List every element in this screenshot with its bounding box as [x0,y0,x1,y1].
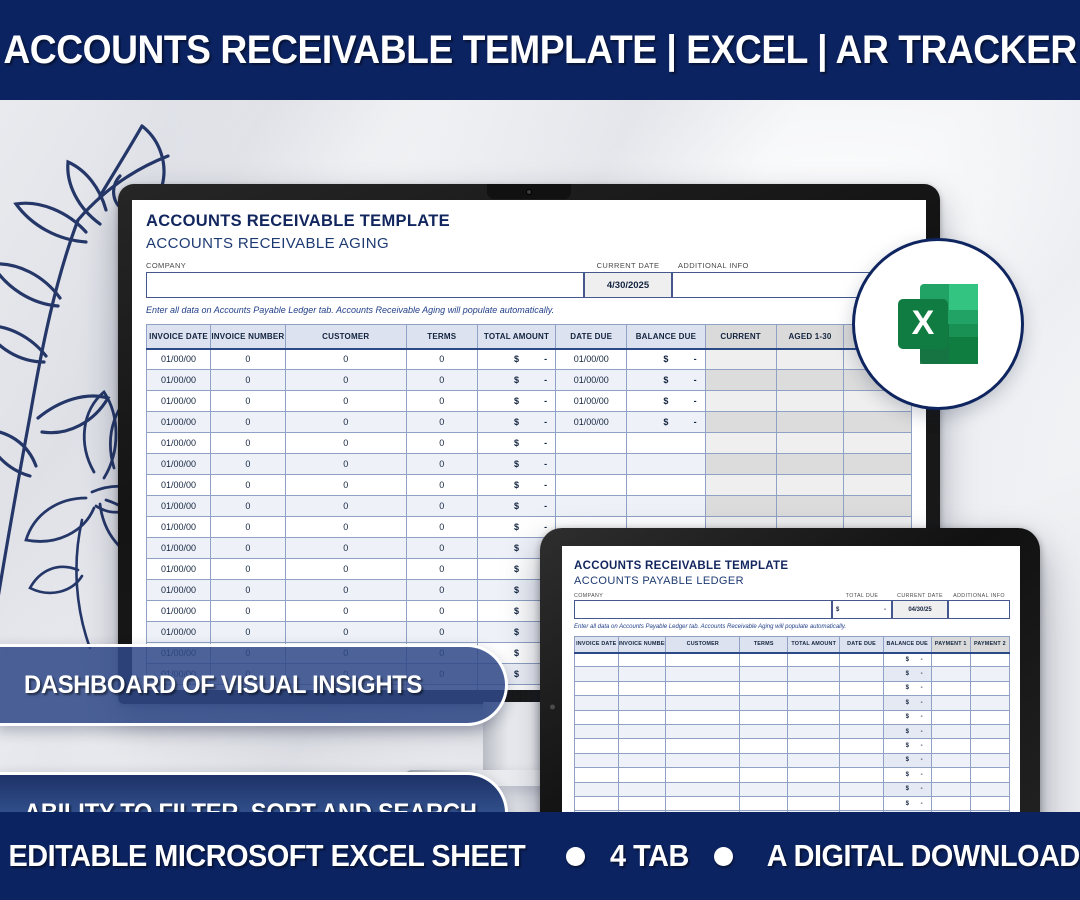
table-row[interactable]: $- [575,739,1010,753]
cell[interactable] [788,696,840,710]
column-header-total-amount[interactable]: TOTAL AMOUNT [477,325,555,349]
cell[interactable] [705,370,776,391]
table-row[interactable]: 01/00/00000$- [147,496,912,517]
column-header-aged-1-30[interactable]: AGED 1-30 [776,325,844,349]
cell[interactable] [740,768,788,782]
cell[interactable]: 01/00/00 [147,433,211,454]
cell[interactable]: 0 [211,580,286,601]
cell-dash: - [544,480,547,490]
column-header-invoice-number[interactable]: INVOICE NUMBER [618,637,666,653]
cell[interactable]: 0 [406,559,477,580]
cell[interactable] [705,454,776,475]
cell[interactable] [970,681,1009,695]
cell[interactable] [776,370,844,391]
cell[interactable] [575,681,619,695]
cell[interactable] [618,710,666,724]
cell[interactable] [970,653,1009,667]
cell[interactable]: 01/00/00 [147,496,211,517]
cell[interactable] [618,753,666,767]
callout-badge-filter-sort[interactable]: ABILITY TO FILTER, SORT AND SEARCH [0,772,508,812]
cell[interactable] [840,653,884,667]
cell[interactable]: $- [883,768,931,782]
cell[interactable] [575,796,619,810]
cell[interactable]: $- [883,696,931,710]
cell-dash: - [694,375,697,385]
cell[interactable] [666,681,740,695]
table-row[interactable]: $- [575,768,1010,782]
cell[interactable]: $- [477,412,555,433]
cell[interactable] [575,753,619,767]
cell[interactable]: 01/00/00 [147,349,211,370]
cell[interactable] [705,433,776,454]
cell[interactable]: $- [477,391,555,412]
cell[interactable]: 0 [211,349,286,370]
cell[interactable]: 01/00/00 [556,349,627,370]
cell[interactable]: 0 [285,538,406,559]
cell[interactable]: $- [477,496,555,517]
cell[interactable] [788,753,840,767]
tablet-total-due-label: TOTAL DUE [832,593,892,599]
cell[interactable] [788,653,840,667]
cell[interactable] [931,739,970,753]
cell-dash: - [544,396,547,406]
cell[interactable]: 01/00/00 [147,559,211,580]
cell[interactable] [556,496,627,517]
cell[interactable]: 0 [406,412,477,433]
cell[interactable]: 0 [211,454,286,475]
cell-dash: - [921,700,923,706]
cell[interactable] [931,667,970,681]
callout-label-2: ABILITY TO FILTER, SORT AND SEARCH [24,799,477,813]
cell[interactable] [840,724,884,738]
table-row[interactable]: 01/00/00000$- [147,454,912,475]
cell[interactable] [666,696,740,710]
cell[interactable]: 0 [285,391,406,412]
cell[interactable]: 0 [285,517,406,538]
cell[interactable]: 0 [285,622,406,643]
cell-dash: - [921,801,923,807]
cell[interactable] [618,696,666,710]
monitor-instruction-note: Enter all data on Accounts Payable Ledge… [146,305,912,315]
cell[interactable]: $- [883,796,931,810]
cell[interactable]: 0 [211,538,286,559]
monitor-current-date-value[interactable]: 4/30/2025 [584,272,672,298]
ap-ledger-spreadsheet: ACCOUNTS RECEIVABLE TEMPLATE ACCOUNTS PA… [562,546,1020,812]
monitor-company-input[interactable] [146,272,584,298]
cell[interactable] [575,768,619,782]
cell[interactable]: $- [883,681,931,695]
cell[interactable] [627,454,705,475]
table-row[interactable]: 01/00/00000$-01/00/00$- [147,391,912,412]
cell[interactable]: $- [883,653,931,667]
cell[interactable]: 0 [211,517,286,538]
bottom-text-1: EDITABLE MICROSOFT EXCEL SHEET [8,838,525,874]
cell[interactable]: 0 [211,622,286,643]
cell[interactable] [740,753,788,767]
table-row[interactable]: $- [575,753,1010,767]
cell[interactable]: 0 [285,433,406,454]
cell[interactable]: 0 [406,475,477,496]
cell[interactable] [931,696,970,710]
poster-title: ACCOUNTS RECEIVABLE TEMPLATE | EXCEL | A… [3,28,1076,73]
cell[interactable]: $- [883,739,931,753]
excel-letter-x: X [912,304,935,342]
cell[interactable] [840,739,884,753]
cell[interactable] [556,433,627,454]
cell-dash: - [921,685,923,691]
cell[interactable] [666,782,740,796]
table-row[interactable]: 01/00/00000$- [147,433,912,454]
cell[interactable] [740,710,788,724]
cell[interactable]: 0 [285,349,406,370]
cell[interactable]: 0 [211,475,286,496]
tablet-current-date-label: CURRENT DATE [892,593,948,599]
cell[interactable] [575,724,619,738]
cell-dash: - [694,417,697,427]
cell[interactable]: $- [477,370,555,391]
monitor-sheet-subtitle: ACCOUNTS RECEIVABLE AGING [146,235,912,252]
cell[interactable]: 0 [406,496,477,517]
cell[interactable]: 0 [211,433,286,454]
cell-dash: - [544,501,547,511]
cell[interactable]: 0 [211,496,286,517]
cell[interactable]: 01/00/00 [556,412,627,433]
table-row[interactable]: $- [575,653,1010,667]
cell[interactable]: $- [627,349,705,370]
cell[interactable]: 0 [285,454,406,475]
cell[interactable] [666,653,740,667]
tablet-current-date-value[interactable]: 04/30/25 [892,600,948,619]
cell[interactable]: 0 [211,370,286,391]
cell[interactable] [740,667,788,681]
cell[interactable] [627,433,705,454]
tablet-company-input[interactable] [574,600,832,619]
cell[interactable] [931,768,970,782]
cell[interactable] [705,475,776,496]
cell[interactable] [970,796,1009,810]
cell[interactable] [788,782,840,796]
cell[interactable]: 01/00/00 [147,517,211,538]
bottom-banner: EDITABLE MICROSOFT EXCEL SHEET 4 TAB A D… [0,812,1080,900]
cell[interactable]: 0 [285,370,406,391]
cell[interactable] [705,391,776,412]
cell[interactable] [776,349,844,370]
cell[interactable]: $- [477,433,555,454]
cell[interactable] [776,475,844,496]
cell[interactable]: $- [627,391,705,412]
cell[interactable] [740,696,788,710]
cell-dash: - [921,757,923,763]
column-header-total-amount[interactable]: TOTAL AMOUNT [788,637,840,653]
tablet-additional-info-input[interactable] [948,600,1010,619]
cell[interactable] [618,796,666,810]
cell[interactable] [740,653,788,667]
cell[interactable] [705,496,776,517]
cell[interactable] [618,782,666,796]
cell-dash: - [694,396,697,406]
column-header-customer[interactable]: CUSTOMER [285,325,406,349]
column-header-date-due[interactable]: DATE DUE [556,325,627,349]
tablet-total-due-value[interactable]: $ - [832,600,892,619]
column-header-balance-due[interactable]: BALANCE DUE [627,325,705,349]
cell[interactable] [788,710,840,724]
tablet-additional-info-label: ADDITIONAL INFO [948,593,1010,599]
cell[interactable]: $- [883,724,931,738]
callout-label-1: DASHBOARD OF VISUAL INSIGHTS [24,671,422,700]
cell[interactable]: $- [477,475,555,496]
cell[interactable]: 0 [406,580,477,601]
cell[interactable] [970,667,1009,681]
cell[interactable] [666,710,740,724]
table-row[interactable]: $- [575,724,1010,738]
cell[interactable] [618,724,666,738]
cell[interactable]: 0 [285,496,406,517]
cell[interactable] [575,782,619,796]
callout-badge-dashboard[interactable]: DASHBOARD OF VISUAL INSIGHTS [0,644,508,726]
cell[interactable]: 01/00/00 [147,580,211,601]
cell[interactable] [788,667,840,681]
cell[interactable] [627,475,705,496]
cell[interactable] [970,739,1009,753]
cell[interactable] [844,454,912,475]
column-header-terms[interactable]: TERMS [740,637,788,653]
cell[interactable] [740,681,788,695]
cell[interactable]: 0 [406,622,477,643]
cell[interactable] [788,768,840,782]
cell[interactable] [840,667,884,681]
cell[interactable]: 01/00/00 [556,370,627,391]
cell[interactable]: 0 [406,433,477,454]
cell[interactable]: 0 [406,517,477,538]
main-visual-area: ACCOUNTS RECEIVABLE TEMPLATE ACCOUNTS RE… [0,100,1080,812]
cell[interactable]: $- [883,667,931,681]
circle-bullet-icon [714,847,733,866]
cell-dash: - [921,657,923,663]
cell[interactable] [840,753,884,767]
cell[interactable]: 01/00/00 [147,601,211,622]
cell-dash: - [921,772,923,778]
tablet-company-label: COMPANY [574,593,832,599]
tablet-device: ACCOUNTS RECEIVABLE TEMPLATE ACCOUNTS PA… [540,528,1040,812]
cell[interactable]: 0 [285,601,406,622]
table-row[interactable]: 01/00/00000$- [147,475,912,496]
monitor-current-date-label: CURRENT DATE [584,261,672,270]
cell[interactable]: $- [883,753,931,767]
cell[interactable]: 0 [406,538,477,559]
cell-dash: - [921,714,923,720]
cell[interactable] [931,782,970,796]
tablet-camera-icon [550,705,555,710]
cell[interactable]: 0 [406,370,477,391]
cell[interactable] [740,796,788,810]
table-row[interactable]: $- [575,710,1010,724]
cell[interactable]: 0 [285,559,406,580]
table-row[interactable]: $- [575,681,1010,695]
cell[interactable]: 01/00/00 [556,391,627,412]
microsoft-excel-icon: X [882,268,994,380]
cell[interactable]: 01/00/00 [147,538,211,559]
cell[interactable] [840,710,884,724]
tablet-sheet-title: ACCOUNTS RECEIVABLE TEMPLATE [574,560,1010,572]
bottom-text-3: A DIGITAL DOWNLOAD [767,838,1080,874]
cell[interactable] [844,412,912,433]
cell[interactable]: 0 [211,412,286,433]
cell[interactable] [556,454,627,475]
cell[interactable] [840,796,884,810]
cell[interactable] [618,681,666,695]
table-header-row: INVOICE DATEINVOICE NUMBERCUSTOMERTERMST… [575,637,1010,653]
cell[interactable] [970,696,1009,710]
cell-dash: - [694,354,697,364]
column-header-customer[interactable]: CUSTOMER [666,637,740,653]
cell[interactable] [776,454,844,475]
cell[interactable]: 0 [406,454,477,475]
cell[interactable] [575,739,619,753]
cell[interactable]: $- [477,454,555,475]
cell[interactable]: 01/00/00 [147,454,211,475]
cell[interactable] [740,782,788,796]
cell[interactable]: 0 [285,475,406,496]
cell-dash: - [921,786,923,792]
cell[interactable] [931,753,970,767]
cell[interactable] [575,667,619,681]
webcam-icon [526,189,532,195]
cell[interactable]: 01/00/00 [147,370,211,391]
cell[interactable] [776,496,844,517]
cell[interactable] [970,753,1009,767]
table-row[interactable]: $- [575,667,1010,681]
cell[interactable]: $- [477,349,555,370]
cell[interactable] [740,739,788,753]
poster-canvas: ACCOUNTS RECEIVABLE TEMPLATE | EXCEL | A… [0,0,1080,900]
cell[interactable] [627,496,705,517]
cell[interactable] [575,696,619,710]
column-header-balance-due[interactable]: BALANCE DUE [883,637,931,653]
cell[interactable] [788,681,840,695]
cell[interactable] [666,739,740,753]
cell[interactable] [575,710,619,724]
cell[interactable] [666,768,740,782]
cell[interactable]: 0 [211,559,286,580]
column-header-current[interactable]: CURRENT [705,325,776,349]
table-row[interactable]: 01/00/00000$-01/00/00$- [147,370,912,391]
cell[interactable] [618,739,666,753]
tablet-instruction-note: Enter all data on Accounts Payable Ledge… [574,624,1010,630]
cell[interactable]: $- [883,710,931,724]
cell[interactable] [970,782,1009,796]
cell[interactable] [556,475,627,496]
cell[interactable] [666,753,740,767]
cell[interactable] [740,724,788,738]
cell[interactable]: 0 [285,412,406,433]
table-row[interactable]: $- [575,696,1010,710]
cell[interactable] [840,681,884,695]
cell[interactable] [840,782,884,796]
cell[interactable]: 0 [211,601,286,622]
cell[interactable] [970,710,1009,724]
cell[interactable] [776,433,844,454]
cell[interactable]: 0 [406,349,477,370]
tablet-total-due-currency: $ [836,607,839,613]
cell[interactable] [788,739,840,753]
cell[interactable] [844,475,912,496]
cell[interactable] [776,391,844,412]
cell[interactable] [844,496,912,517]
column-header-payment-2[interactable]: PAYMENT 2 [970,637,1009,653]
cell[interactable]: 0 [406,391,477,412]
table-row[interactable]: 01/00/00000$-01/00/00$- [147,349,912,370]
column-header-invoice-date[interactable]: INVOICE DATE [147,325,211,349]
cell[interactable]: 01/00/00 [147,391,211,412]
cell-dash: - [544,438,547,448]
tablet-total-due-dash: - [884,607,886,613]
cell-dash: - [921,729,923,735]
column-header-invoice-date[interactable]: INVOICE DATE [575,637,619,653]
cell[interactable]: $- [883,782,931,796]
cell[interactable] [788,796,840,810]
table-row[interactable]: $- [575,782,1010,796]
cell[interactable] [618,667,666,681]
cell[interactable] [705,349,776,370]
cell[interactable] [840,768,884,782]
circle-bullet-icon [566,847,585,866]
cell[interactable]: 01/00/00 [147,622,211,643]
table-row[interactable]: $- [575,796,1010,810]
cell[interactable]: 01/00/00 [147,475,211,496]
cell[interactable] [970,768,1009,782]
cell[interactable] [931,724,970,738]
cell[interactable] [776,412,844,433]
cell[interactable] [840,696,884,710]
tablet-screen: ACCOUNTS RECEIVABLE TEMPLATE ACCOUNTS PA… [562,546,1020,812]
cell[interactable] [931,681,970,695]
excel-logo-badge: X [852,238,1024,410]
column-header-date-due[interactable]: DATE DUE [840,637,884,653]
cell[interactable] [618,653,666,667]
cell[interactable] [666,724,740,738]
column-header-invoice-number[interactable]: INVOICE NUMBER [211,325,286,349]
cell[interactable] [666,667,740,681]
cell[interactable] [575,653,619,667]
cell[interactable] [788,724,840,738]
cell[interactable]: 0 [406,601,477,622]
tablet-sheet-subtitle: ACCOUNTS PAYABLE LEDGER [574,575,1010,587]
cell[interactable]: 01/00/00 [147,412,211,433]
column-header-payment-1[interactable]: PAYMENT 1 [931,637,970,653]
cell-dash: - [544,354,547,364]
cell[interactable] [618,768,666,782]
column-header-terms[interactable]: TERMS [406,325,477,349]
cell[interactable]: $- [627,412,705,433]
cell[interactable] [666,796,740,810]
cell[interactable]: 0 [211,391,286,412]
cell[interactable] [931,796,970,810]
cell[interactable] [931,710,970,724]
table-body: $-$-$-$-$-$-$-$-$-$-$-$-$-$-$-$-$- [575,653,1010,813]
cell[interactable] [844,433,912,454]
monitor-company-label: COMPANY [146,261,584,270]
cell[interactable] [705,412,776,433]
cell-dash: - [544,417,547,427]
cell[interactable]: 0 [285,580,406,601]
cell[interactable] [970,724,1009,738]
cell[interactable]: $- [627,370,705,391]
bottom-text-2: 4 TAB [610,838,689,874]
cell[interactable] [931,653,970,667]
table-row[interactable]: 01/00/00000$-01/00/00$- [147,412,912,433]
top-banner: ACCOUNTS RECEIVABLE TEMPLATE | EXCEL | A… [0,0,1080,100]
cell-dash: - [921,743,923,749]
